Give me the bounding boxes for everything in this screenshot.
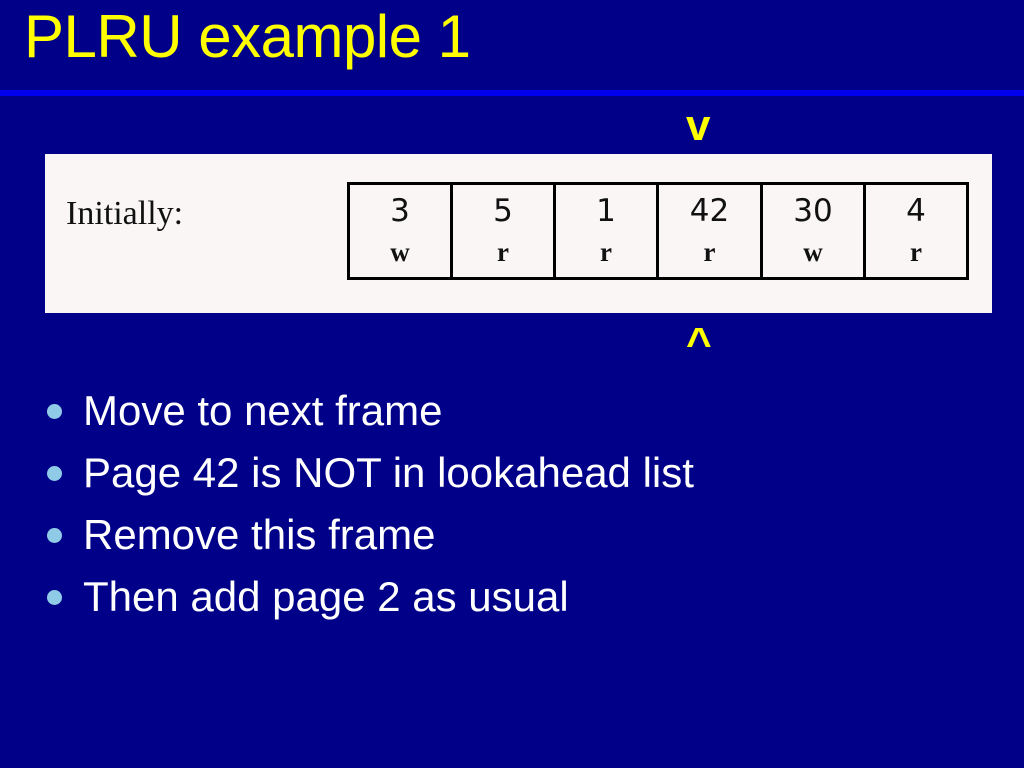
up-pointer-marker: ^ (686, 322, 712, 366)
bullet-dot-icon (47, 466, 62, 481)
down-pointer-marker: v (686, 104, 710, 148)
bullet-dot-icon (47, 528, 62, 543)
frame-access-flag: w (390, 239, 410, 266)
list-item-label: Then add page 2 as usual (83, 576, 569, 618)
frame-cell-0: 3 w (349, 184, 452, 279)
list-item-label: Remove this frame (83, 514, 435, 556)
frame-page-number: 5 (493, 196, 513, 227)
initially-label: Initially: (66, 195, 183, 233)
frame-cell-2: 1 r (555, 184, 658, 279)
frame-page-number: 30 (793, 196, 832, 227)
title-divider (0, 90, 1024, 96)
frame-access-flag: r (704, 239, 716, 266)
list-item-label: Page 42 is NOT in lookahead list (83, 452, 694, 494)
frame-page-number: 42 (690, 196, 729, 227)
bullet-dot-icon (47, 590, 62, 605)
frame-table: 3 w 5 r 1 r (347, 182, 969, 280)
frame-page-number: 1 (596, 196, 616, 227)
list-item: Move to next frame (44, 380, 984, 442)
frame-page-number: 3 (390, 196, 410, 227)
list-item: Then add page 2 as usual (44, 566, 984, 628)
frame-page-number: 4 (906, 196, 926, 227)
list-item: Page 42 is NOT in lookahead list (44, 442, 984, 504)
frame-access-flag: r (600, 239, 612, 266)
table-row: 3 w 5 r 1 r (349, 184, 968, 279)
frame-access-flag: w (803, 239, 823, 266)
slide: PLRU example 1 v Initially: 3 w 5 (0, 0, 1024, 768)
frame-cell-5: 4 r (865, 184, 968, 279)
bullet-list: Move to next frame Page 42 is NOT in loo… (44, 380, 984, 628)
frame-access-flag: r (497, 239, 509, 266)
page-title: PLRU example 1 (24, 2, 471, 73)
frame-table-panel: Initially: 3 w 5 r (45, 154, 992, 313)
list-item: Remove this frame (44, 504, 984, 566)
bullet-dot-icon (47, 404, 62, 419)
frame-cell-3: 42 r (658, 184, 762, 279)
frame-cell-1: 5 r (452, 184, 555, 279)
frame-cell-4: 30 w (762, 184, 865, 279)
frame-access-flag: r (910, 239, 922, 266)
list-item-label: Move to next frame (83, 390, 442, 432)
